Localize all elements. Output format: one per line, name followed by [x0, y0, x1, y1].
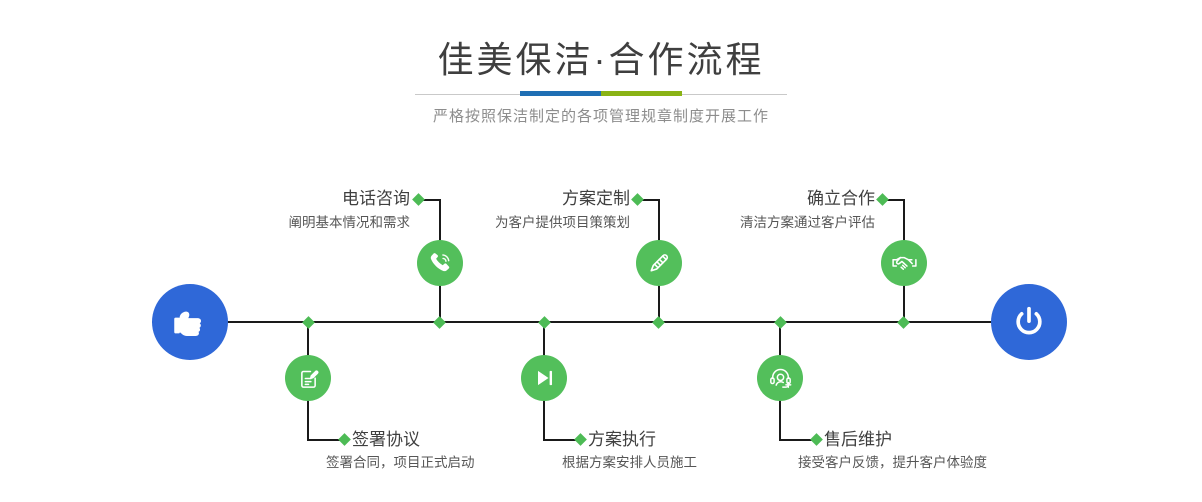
- step-3-icon-node[interactable]: [636, 240, 682, 286]
- step-5-desc: 清洁方案通过客户评估: [635, 213, 875, 233]
- step-3-axis-marker: [652, 316, 665, 329]
- step-5-title: 确立合作: [665, 188, 875, 210]
- step-2-icon-node[interactable]: [285, 355, 331, 401]
- divider-accent-green: [601, 91, 682, 96]
- power-icon: [1009, 302, 1049, 342]
- handshake-icon: [891, 250, 918, 277]
- divider-accent-blue: [520, 91, 601, 96]
- document-edit-icon: [296, 366, 321, 391]
- phone-call-icon: [427, 250, 453, 276]
- step-4-icon-node[interactable]: [521, 355, 567, 401]
- step-6-title: 售后维护: [824, 429, 1084, 451]
- step-1-axis-marker: [433, 316, 446, 329]
- step-6-desc: 接受客户反馈，提升客户体验度: [798, 453, 1128, 473]
- plan-pencil-icon: [646, 250, 672, 276]
- step-3-title: 方案定制: [420, 188, 630, 210]
- customer-service-add-icon: [768, 366, 793, 391]
- step-2-axis-marker: [302, 316, 315, 329]
- page-title: 佳美保洁·合作流程: [0, 38, 1202, 82]
- step-5-axis-marker: [897, 316, 910, 329]
- step-1-title: 电话咨询: [200, 188, 410, 210]
- step-5-icon-node[interactable]: [881, 240, 927, 286]
- step-6-icon-node[interactable]: [757, 355, 803, 401]
- timeline-axis: [152, 321, 1050, 323]
- play-skip-icon: [532, 366, 556, 390]
- step-5-label-marker: [876, 193, 889, 206]
- timeline-start-node[interactable]: [152, 284, 228, 360]
- page-subtitle: 严格按照保洁制定的各项管理规章制度开展工作: [0, 106, 1202, 128]
- flowchart-canvas: 佳美保洁·合作流程 严格按照保洁制定的各项管理规章制度开展工作 电话咨询 阐明基…: [0, 0, 1202, 502]
- step-4-axis-marker: [538, 316, 551, 329]
- step-1-icon-node[interactable]: [417, 240, 463, 286]
- pointing-hand-icon: [169, 301, 211, 343]
- timeline-end-node[interactable]: [991, 284, 1067, 360]
- step-3-desc: 为客户提供项目策策划: [390, 213, 630, 233]
- step-3-label-marker: [631, 193, 644, 206]
- step-6-axis-marker: [774, 316, 787, 329]
- step-1-desc: 阐明基本情况和需求: [170, 213, 410, 233]
- step-2-label-marker: [338, 433, 351, 446]
